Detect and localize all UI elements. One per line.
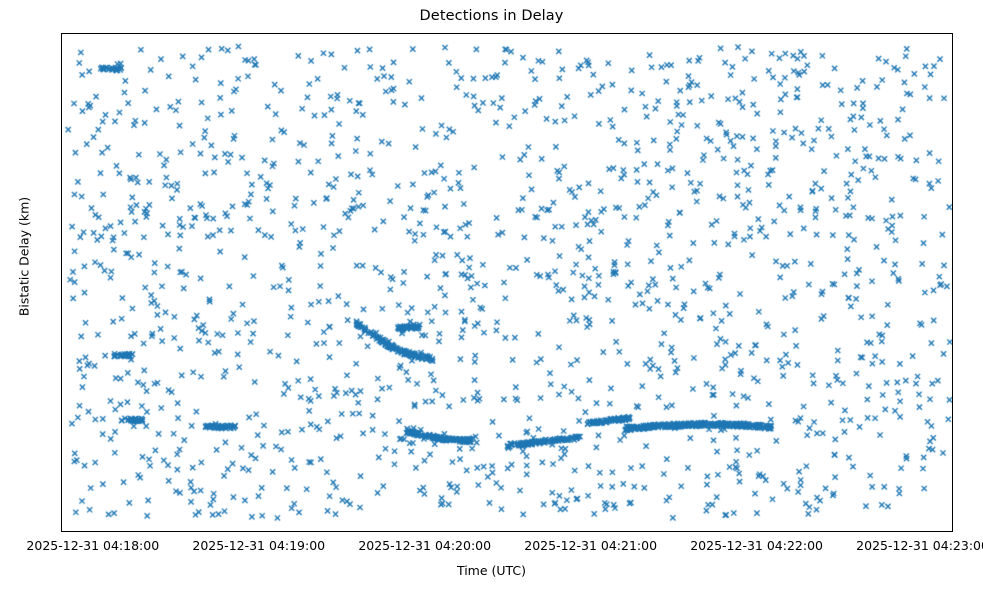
y-tick-mark [61, 49, 62, 50]
matplotlib-figure: Detections in Delay 01020304050602025-12… [0, 0, 983, 590]
x-axis-label: Time (UTC) [0, 563, 983, 578]
x-tick-label: 2025-12-31 04:22:00 [690, 538, 823, 553]
x-tick-label: 2025-12-31 04:18:00 [26, 538, 159, 553]
x-tick-label: 2025-12-31 04:20:00 [358, 538, 491, 553]
y-tick-mark [61, 520, 62, 521]
page-title: Detections in Delay [0, 8, 983, 24]
y-tick-mark [61, 206, 62, 207]
y-tick-mark [61, 441, 62, 442]
plot-area [61, 33, 953, 532]
y-tick-mark [61, 363, 62, 364]
x-tick-label: 2025-12-31 04:19:00 [192, 538, 325, 553]
y-tick-mark [61, 128, 62, 129]
x-tick-label: 2025-12-31 04:21:00 [524, 538, 657, 553]
y-axis-label: Bistatic Delay (km) [17, 107, 32, 407]
x-tick-label: 2025-12-31 04:23:00 [856, 538, 983, 553]
y-tick-mark [61, 285, 62, 286]
scatter-points-canvas [62, 34, 953, 532]
